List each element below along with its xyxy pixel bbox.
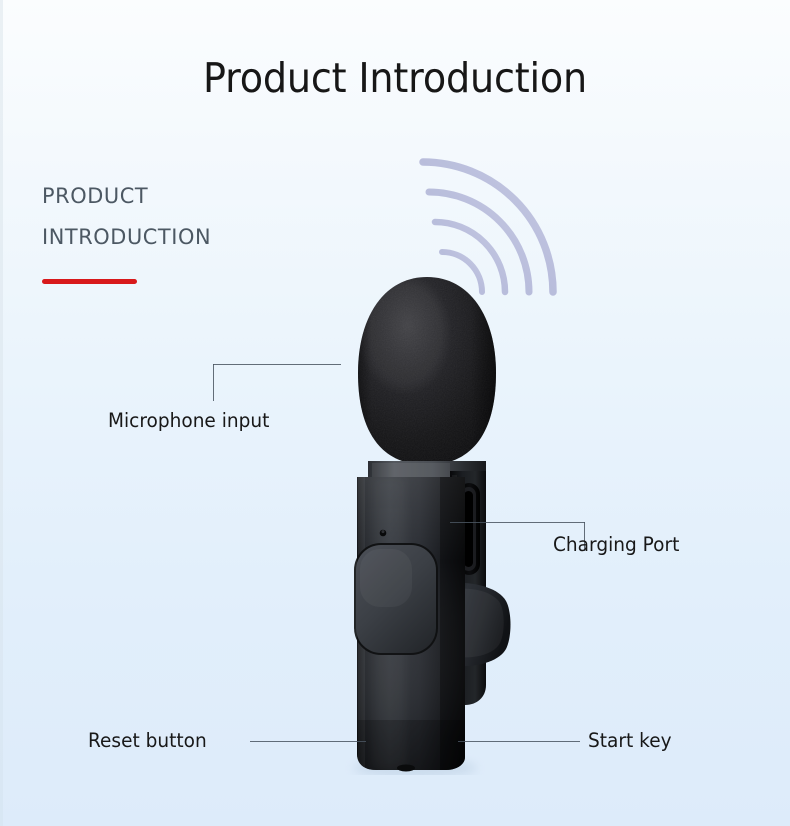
section-heading-line-2: INTRODUCTION <box>42 217 333 258</box>
microphone-body <box>350 470 475 775</box>
accent-underline-bar <box>42 279 137 284</box>
callout-label-start-key: Start key <box>588 729 672 752</box>
callout-label-reset-button: Reset button <box>88 729 207 752</box>
callout-label-microphone-input: Microphone input <box>108 409 269 432</box>
left-edge-seam <box>0 0 3 826</box>
start-key-button <box>354 543 438 655</box>
product-introduction-slide: Product Introduction PRODUCT INTRODUCTIO… <box>0 0 790 826</box>
page-title: Product Introduction <box>28 52 763 104</box>
microphone-foam-head <box>350 270 505 475</box>
microphone-illustration <box>300 265 560 775</box>
section-heading: PRODUCT INTRODUCTION <box>42 176 342 258</box>
callout-label-charging-port: Charging Port <box>553 533 679 556</box>
section-heading-line-1: PRODUCT <box>42 176 333 217</box>
